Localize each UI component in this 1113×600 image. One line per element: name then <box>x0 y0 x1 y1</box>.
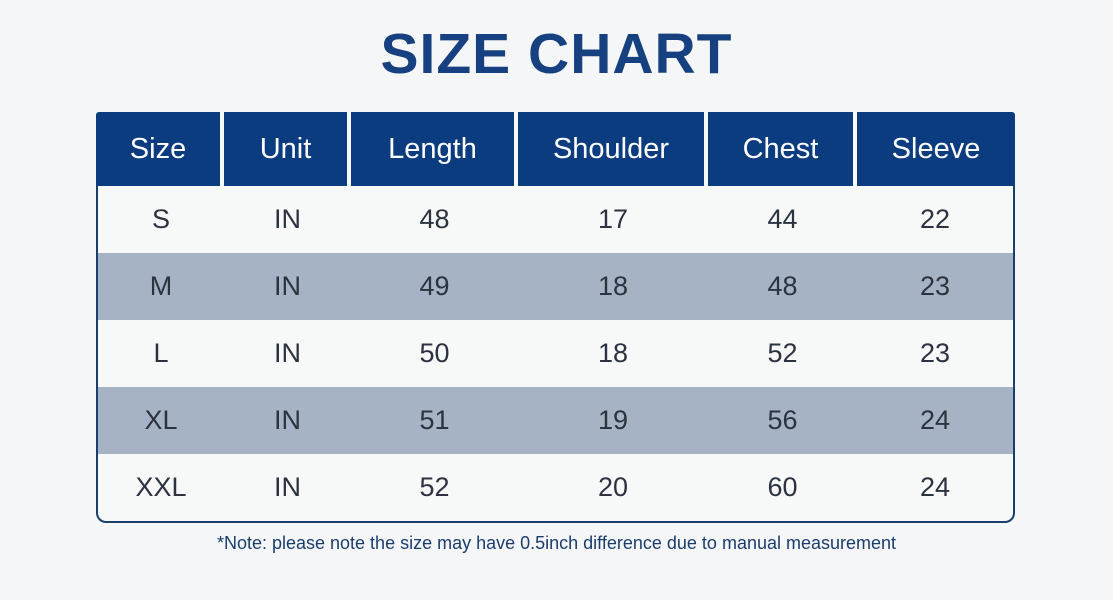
column-header-sleeve[interactable]: Sleeve <box>857 112 1015 186</box>
cell-length: 48 <box>351 186 518 253</box>
cell-size: XXL <box>96 454 224 523</box>
table-header-row: Size Unit Length Shoulder Chest Sleeve <box>96 112 1015 186</box>
page-title: SIZE CHART <box>0 22 1113 86</box>
cell-shoulder: 18 <box>518 320 708 387</box>
size-table: Size Unit Length Shoulder Chest Sleeve S… <box>96 112 1015 523</box>
cell-chest: 56 <box>708 387 857 454</box>
table-row: XL IN 51 19 56 24 <box>96 387 1015 454</box>
cell-size: M <box>96 253 224 320</box>
cell-sleeve: 22 <box>857 186 1015 253</box>
column-header-size[interactable]: Size <box>96 112 224 186</box>
cell-chest: 48 <box>708 253 857 320</box>
column-header-unit[interactable]: Unit <box>224 112 351 186</box>
cell-sleeve: 24 <box>857 387 1015 454</box>
cell-length: 52 <box>351 454 518 523</box>
cell-sleeve: 23 <box>857 253 1015 320</box>
size-chart-page: SIZE CHART Size Unit Length Shoulder Che… <box>0 0 1113 600</box>
table-body: S IN 48 17 44 22 M IN 49 18 48 23 L <box>96 186 1015 523</box>
cell-length: 50 <box>351 320 518 387</box>
cell-chest: 60 <box>708 454 857 523</box>
cell-unit: IN <box>224 454 351 523</box>
cell-chest: 44 <box>708 186 857 253</box>
cell-unit: IN <box>224 320 351 387</box>
cell-length: 51 <box>351 387 518 454</box>
column-header-chest[interactable]: Chest <box>708 112 857 186</box>
cell-shoulder: 19 <box>518 387 708 454</box>
cell-unit: IN <box>224 186 351 253</box>
cell-shoulder: 18 <box>518 253 708 320</box>
cell-chest: 52 <box>708 320 857 387</box>
column-header-shoulder[interactable]: Shoulder <box>518 112 708 186</box>
table-row: L IN 50 18 52 23 <box>96 320 1015 387</box>
cell-shoulder: 20 <box>518 454 708 523</box>
table-header: Size Unit Length Shoulder Chest Sleeve <box>96 112 1015 186</box>
cell-shoulder: 17 <box>518 186 708 253</box>
measurement-note: *Note: please note the size may have 0.5… <box>0 531 1113 555</box>
column-header-length[interactable]: Length <box>351 112 518 186</box>
cell-unit: IN <box>224 253 351 320</box>
cell-sleeve: 23 <box>857 320 1015 387</box>
cell-length: 49 <box>351 253 518 320</box>
table-row: XXL IN 52 20 60 24 <box>96 454 1015 523</box>
cell-unit: IN <box>224 387 351 454</box>
cell-sleeve: 24 <box>857 454 1015 523</box>
cell-size: S <box>96 186 224 253</box>
table-row: S IN 48 17 44 22 <box>96 186 1015 253</box>
size-table-container: Size Unit Length Shoulder Chest Sleeve S… <box>96 112 1015 523</box>
cell-size: XL <box>96 387 224 454</box>
cell-size: L <box>96 320 224 387</box>
table-row: M IN 49 18 48 23 <box>96 253 1015 320</box>
